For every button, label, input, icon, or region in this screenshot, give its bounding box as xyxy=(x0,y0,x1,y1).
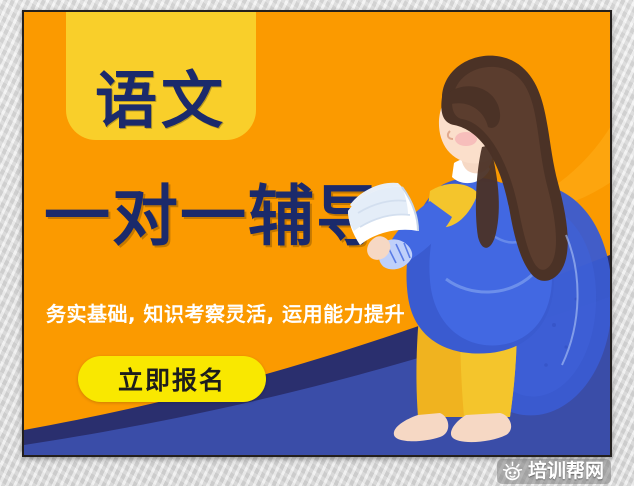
enroll-now-button[interactable]: 立即报名 xyxy=(78,356,266,402)
blue-wave-decoration xyxy=(24,245,610,455)
promo-banner: 语文 一对一辅导 务实基础, 知识考察灵活, 运用能力提升 立即报名 xyxy=(22,10,612,457)
sun-face-icon xyxy=(502,461,523,482)
watermark-label: 培训帮网 xyxy=(528,462,604,481)
headline: 一对一辅导 xyxy=(44,184,504,250)
subject-badge-label: 语文 xyxy=(95,70,227,132)
watermark: 培训帮网 xyxy=(497,459,611,484)
page-background: 语文 一对一辅导 务实基础, 知识考察灵活, 运用能力提升 立即报名 xyxy=(0,0,634,486)
subject-badge: 语文 xyxy=(66,10,256,140)
enroll-now-button-label: 立即报名 xyxy=(118,361,226,397)
subtitle: 务实基础, 知识考察灵活, 运用能力提升 xyxy=(46,298,486,327)
